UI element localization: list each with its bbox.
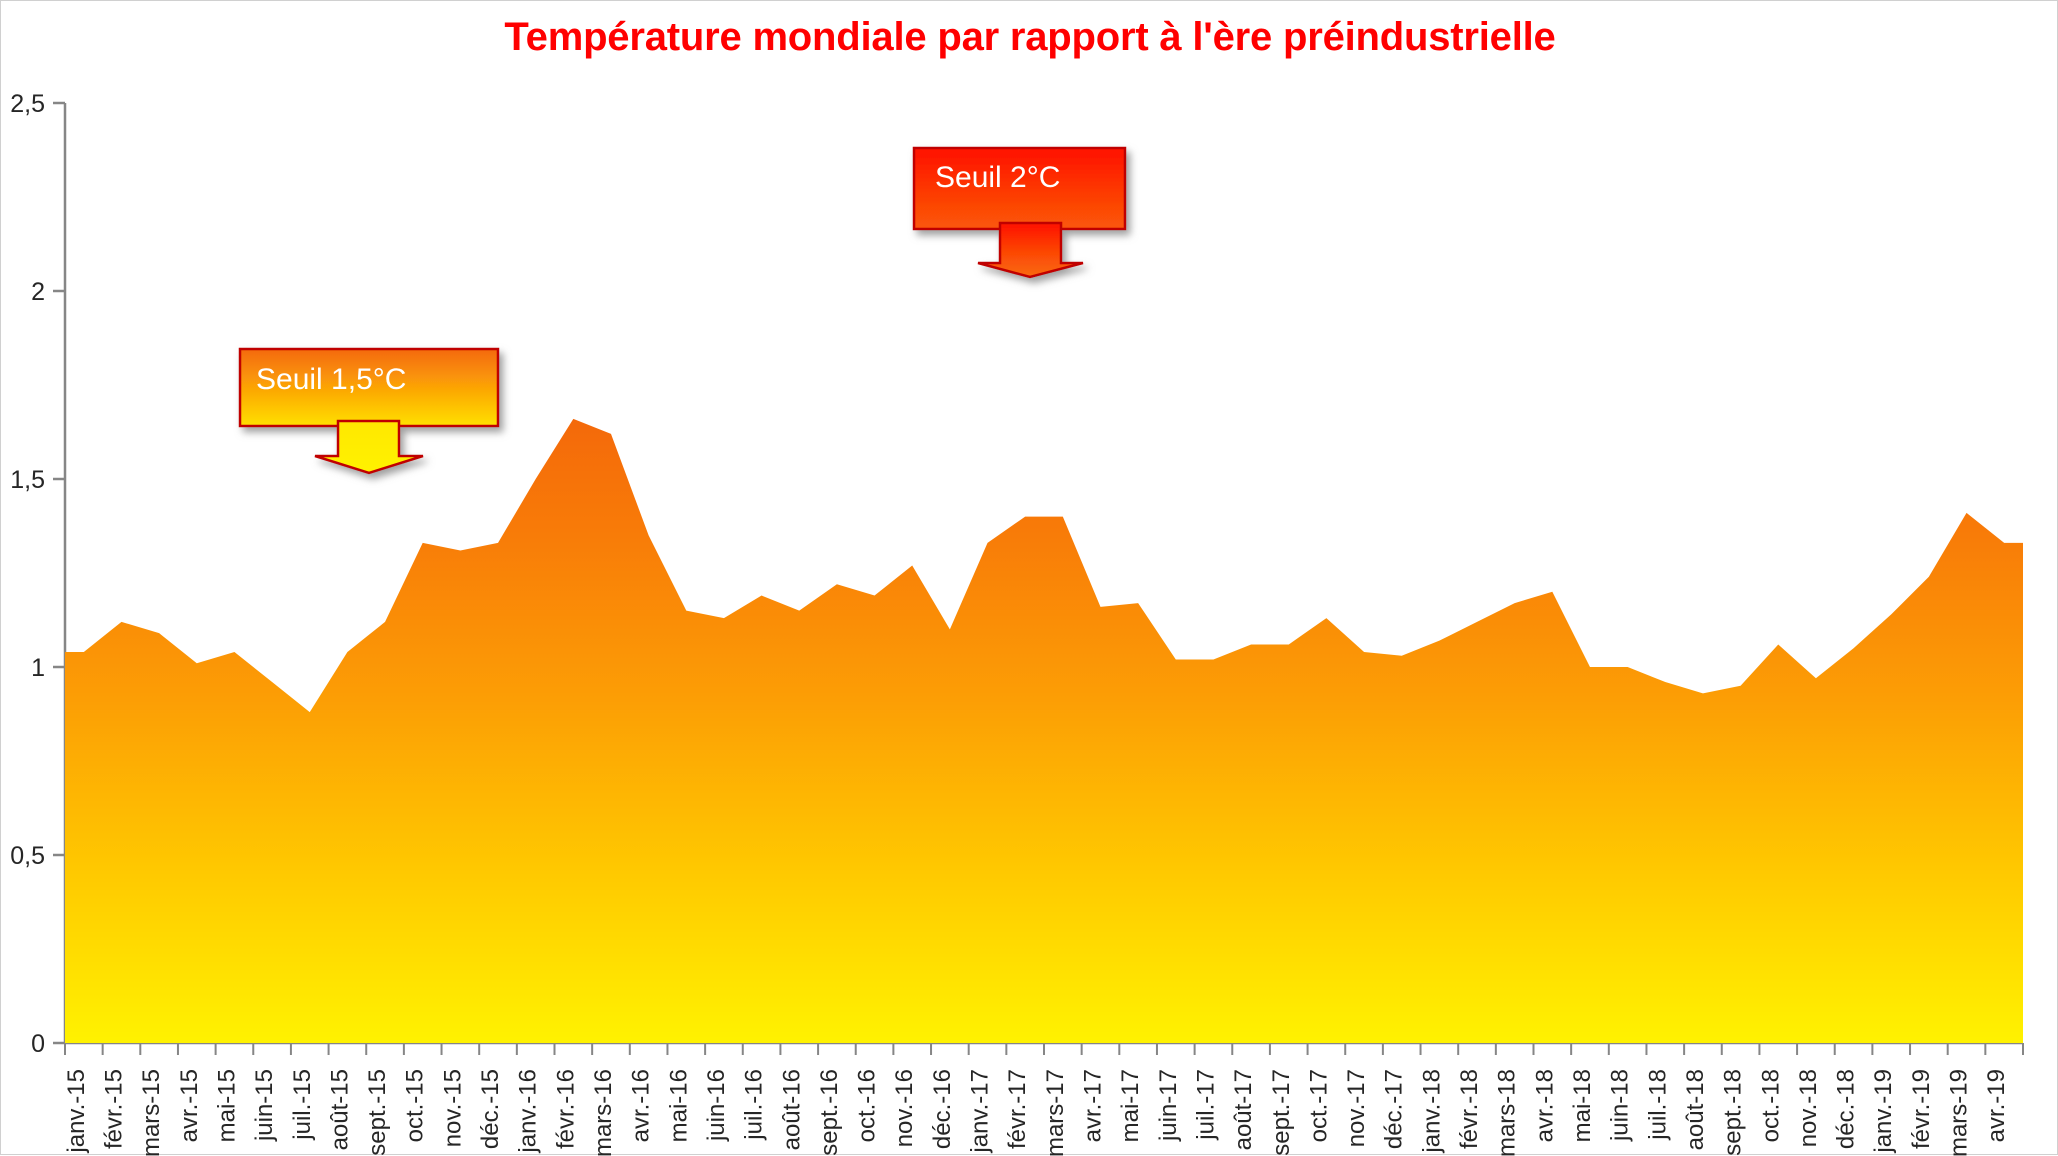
- y-axis-tick-labels: 00,511,522,5: [10, 90, 45, 1058]
- x-axis-tick-label: déc.-18: [1833, 1069, 1860, 1149]
- x-axis-tick-label: janv.-18: [1418, 1069, 1445, 1154]
- x-axis-tick-label: mars-19: [1946, 1069, 1973, 1156]
- x-axis-tick-label: juil.-18: [1644, 1069, 1671, 1141]
- chart-container: Température mondiale par rapport à l'ère…: [0, 0, 2058, 1155]
- x-axis-tick-label: août-17: [1230, 1069, 1257, 1150]
- area-fill: [65, 419, 2023, 1043]
- x-axis-tick-label: août-16: [778, 1069, 805, 1150]
- y-axis-tick-label: 0: [31, 1030, 45, 1058]
- x-axis-tick-label: mars-17: [1042, 1069, 1069, 1156]
- chart-plot-area: 00,511,522,5 janv.-15févr.-15mars-15avr.…: [1, 1, 2058, 1156]
- x-axis-tick-label: nov.-18: [1795, 1069, 1822, 1147]
- x-axis-tick-label: déc.-17: [1381, 1069, 1408, 1149]
- x-axis-tick-label: mai-17: [1117, 1069, 1144, 1142]
- x-axis-tick-label: mars-18: [1494, 1069, 1521, 1156]
- x-axis-tick-label: août-18: [1682, 1069, 1709, 1150]
- x-axis-tick-label: oct.-17: [1305, 1069, 1332, 1142]
- x-axis-tick-label: janv.-16: [515, 1069, 542, 1154]
- x-axis-tick-label: nov.-15: [439, 1069, 466, 1147]
- x-axis-tick-labels: janv.-15févr.-15mars-15avr.-15mai-15juin…: [63, 1069, 2010, 1156]
- x-axis-tick-label: févr.-16: [552, 1069, 579, 1149]
- x-axis-tick-label: oct.-15: [402, 1069, 429, 1142]
- x-axis-tick-label: janv.-15: [63, 1069, 90, 1154]
- x-axis-tick-label: juin-15: [251, 1069, 278, 1142]
- callout-seuil-2c-arrow-icon: [978, 223, 1083, 277]
- x-axis-tick-label: févr.-18: [1456, 1069, 1483, 1149]
- x-axis-tick-label: févr.-17: [1004, 1069, 1031, 1149]
- x-axis-tick-label: avr.-15: [176, 1069, 203, 1142]
- x-axis-tick-label: mai-18: [1569, 1069, 1596, 1142]
- x-axis-tick-label: sept.-18: [1720, 1069, 1747, 1156]
- y-axis-ticks: [53, 103, 65, 1043]
- x-axis-tick-label: avr.-17: [1079, 1069, 1106, 1142]
- callout-seuil-15c-arrow-icon: [315, 421, 423, 473]
- x-axis-tick-label: janv.-17: [967, 1069, 994, 1154]
- x-axis-tick-label: janv.-19: [1870, 1069, 1897, 1154]
- x-axis-tick-label: mars-16: [590, 1069, 617, 1156]
- y-axis-tick-label: 1: [31, 654, 45, 682]
- x-axis-tick-label: févr.-15: [100, 1069, 127, 1149]
- y-axis-tick-label: 0,5: [10, 842, 45, 870]
- callout-seuil-2c-label: Seuil 2°C: [935, 161, 1060, 194]
- x-axis-tick-label: mai-15: [213, 1069, 240, 1142]
- x-axis-ticks: [65, 1043, 2023, 1055]
- callout-seuil-15c-label: Seuil 1,5°C: [256, 363, 406, 396]
- x-axis-tick-label: mai-16: [665, 1069, 692, 1142]
- x-axis-tick-label: déc.-15: [477, 1069, 504, 1149]
- x-axis-tick-label: déc.-16: [929, 1069, 956, 1149]
- x-axis-tick-label: févr.-19: [1908, 1069, 1935, 1149]
- x-axis-tick-label: nov.-16: [891, 1069, 918, 1147]
- x-axis-tick-label: août-15: [326, 1069, 353, 1150]
- y-axis-tick-label: 2,5: [10, 90, 45, 118]
- temperature-area-series: [65, 419, 2023, 1043]
- x-axis-tick-label: juin-17: [1155, 1069, 1182, 1142]
- x-axis-tick-label: juil.-15: [289, 1069, 316, 1141]
- x-axis-tick-label: sept.-15: [364, 1069, 391, 1156]
- x-axis-tick-label: juin-18: [1607, 1069, 1634, 1142]
- x-axis-tick-label: sept.-16: [816, 1069, 843, 1156]
- y-axis-tick-label: 1,5: [10, 466, 45, 494]
- x-axis-tick-label: avr.-19: [1983, 1069, 2010, 1142]
- x-axis-tick-label: juil.-16: [741, 1069, 768, 1141]
- x-axis-tick-label: oct.-18: [1757, 1069, 1784, 1142]
- x-axis-tick-label: oct.-16: [854, 1069, 881, 1142]
- x-axis-tick-label: nov.-17: [1343, 1069, 1370, 1147]
- x-axis-tick-label: avr.-16: [628, 1069, 655, 1142]
- x-axis-tick-label: juin-16: [703, 1069, 730, 1142]
- x-axis-tick-label: avr.-18: [1531, 1069, 1558, 1142]
- y-axis-tick-label: 2: [31, 278, 45, 306]
- x-axis-tick-label: juil.-17: [1192, 1069, 1219, 1141]
- x-axis-tick-label: mars-15: [138, 1069, 165, 1156]
- x-axis-tick-label: sept.-17: [1268, 1069, 1295, 1156]
